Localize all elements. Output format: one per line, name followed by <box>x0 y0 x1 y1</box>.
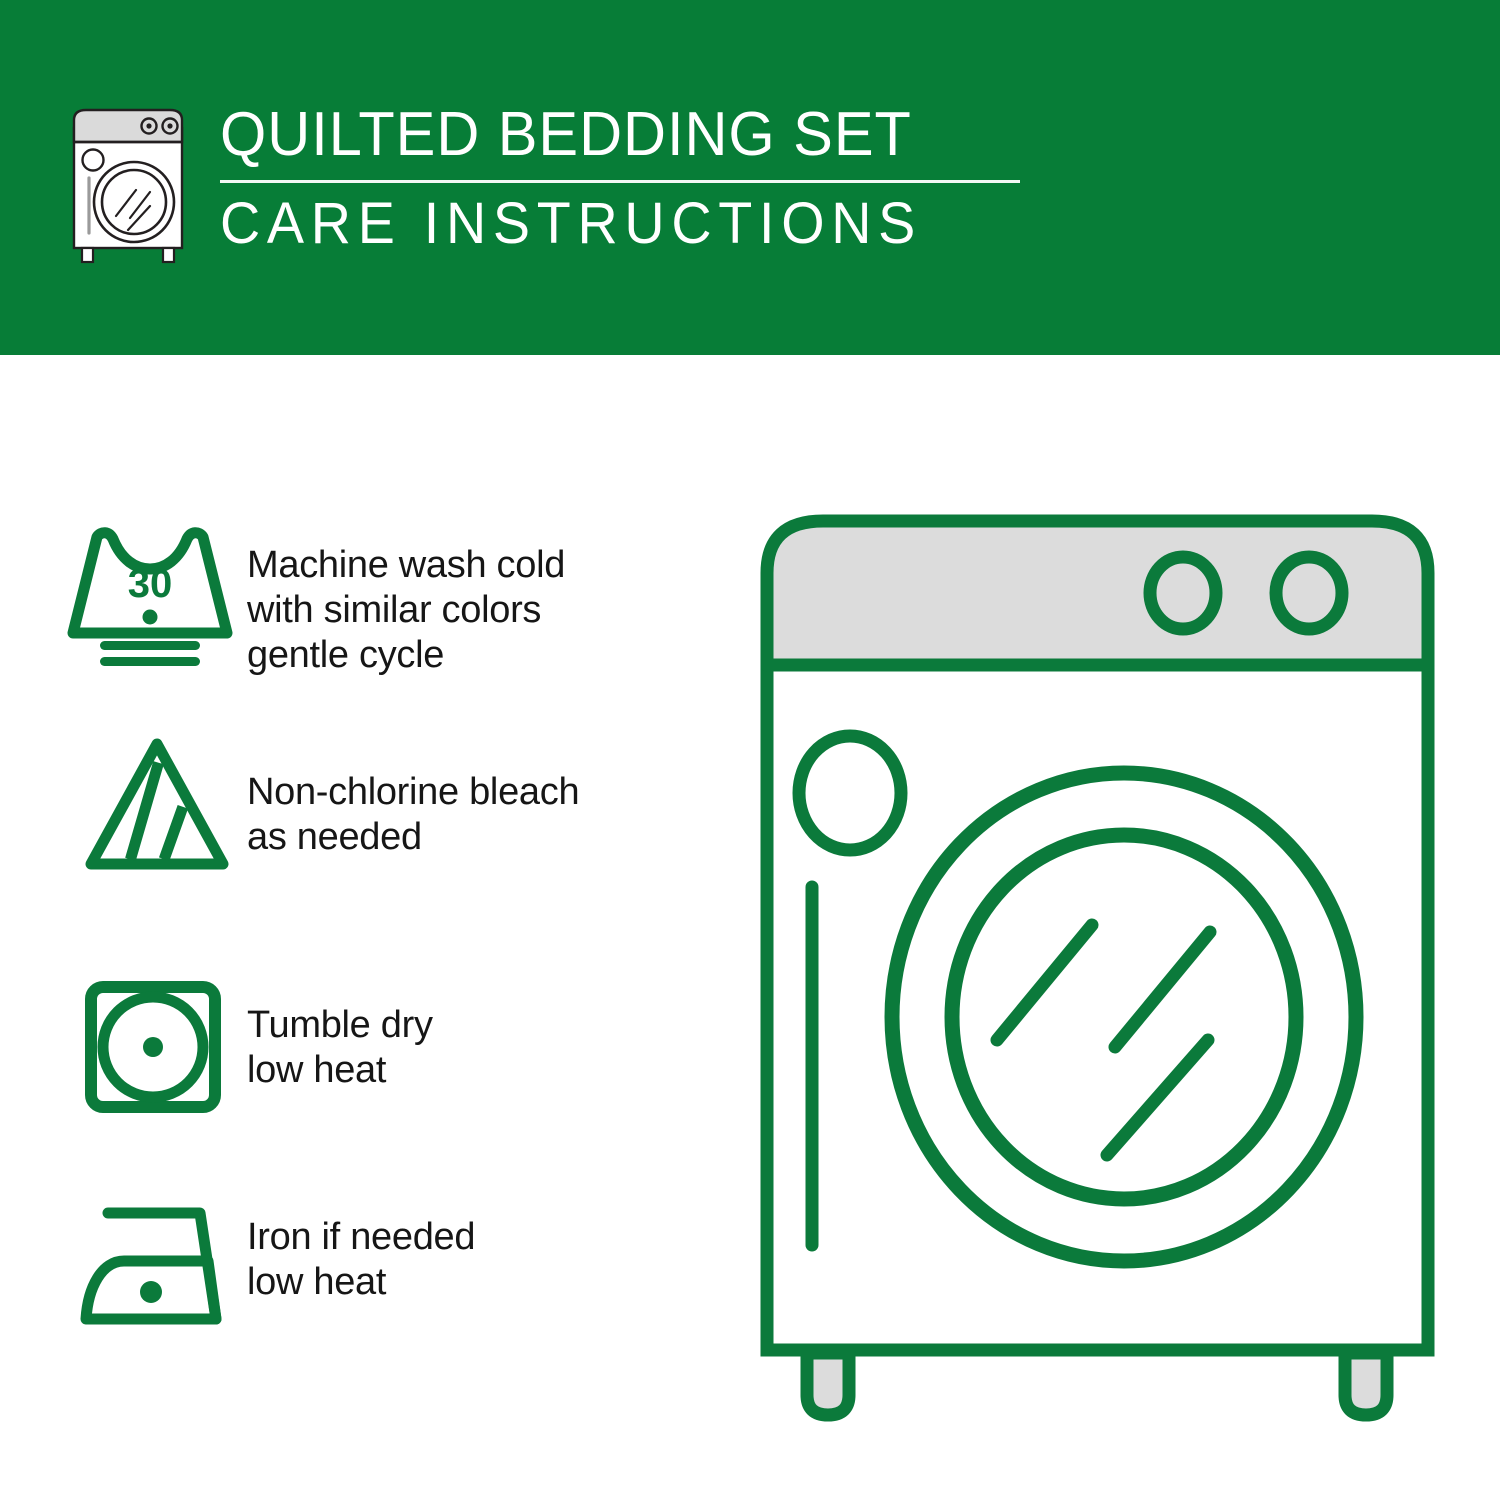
control-panel <box>767 521 1428 665</box>
care-text-line: Tumble dry <box>247 1003 433 1048</box>
care-item-iron: Iron if needed low heat <box>72 1195 475 1340</box>
care-item-iron-text: Iron if needed low heat <box>247 1195 475 1305</box>
care-text-line: Machine wash cold <box>247 543 565 588</box>
care-text-line: low heat <box>247 1048 433 1093</box>
care-text-line: as needed <box>247 815 579 860</box>
care-text-line: Non-chlorine bleach <box>247 770 579 815</box>
care-text-line: Iron if needed <box>247 1215 475 1260</box>
machine-leg <box>1345 1353 1387 1415</box>
page-title: QUILTED BEDDING SET <box>220 104 988 166</box>
care-item-bleach: Non-chlorine bleach as needed <box>72 730 579 875</box>
care-item-bleach-text: Non-chlorine bleach as needed <box>247 730 579 860</box>
care-item-machine-wash: 30 Machine wash cold with similar colors… <box>72 525 565 677</box>
wash-temperature-label: 30 <box>128 562 173 606</box>
title-divider <box>220 180 1020 183</box>
washing-machine-illustration <box>745 495 1450 1420</box>
care-text-line: low heat <box>247 1260 475 1305</box>
machine-wash-icon: 30 <box>72 525 247 670</box>
machine-leg <box>807 1353 849 1415</box>
header-banner: QUILTED BEDDING SET CARE INSTRUCTIONS <box>0 0 1500 355</box>
header-title-group: QUILTED BEDDING SET CARE INSTRUCTIONS <box>220 98 1020 253</box>
washing-machine-icon <box>60 98 198 266</box>
non-chlorine-bleach-icon <box>72 730 247 875</box>
tumble-dry-icon <box>72 973 247 1118</box>
care-text-line: with similar colors <box>247 588 565 633</box>
iron-icon <box>72 1195 247 1340</box>
care-instructions-page: QUILTED BEDDING SET CARE INSTRUCTIONS 30 <box>0 0 1500 1500</box>
care-item-machine-wash-text: Machine wash cold with similar colors ge… <box>247 525 565 677</box>
page-subtitle: CARE INSTRUCTIONS <box>220 195 988 253</box>
care-text-line: gentle cycle <box>247 633 565 678</box>
care-item-tumble-dry: Tumble dry low heat <box>72 973 433 1118</box>
header-content: QUILTED BEDDING SET CARE INSTRUCTIONS <box>60 98 1020 266</box>
care-item-tumble-dry-text: Tumble dry low heat <box>247 973 433 1093</box>
